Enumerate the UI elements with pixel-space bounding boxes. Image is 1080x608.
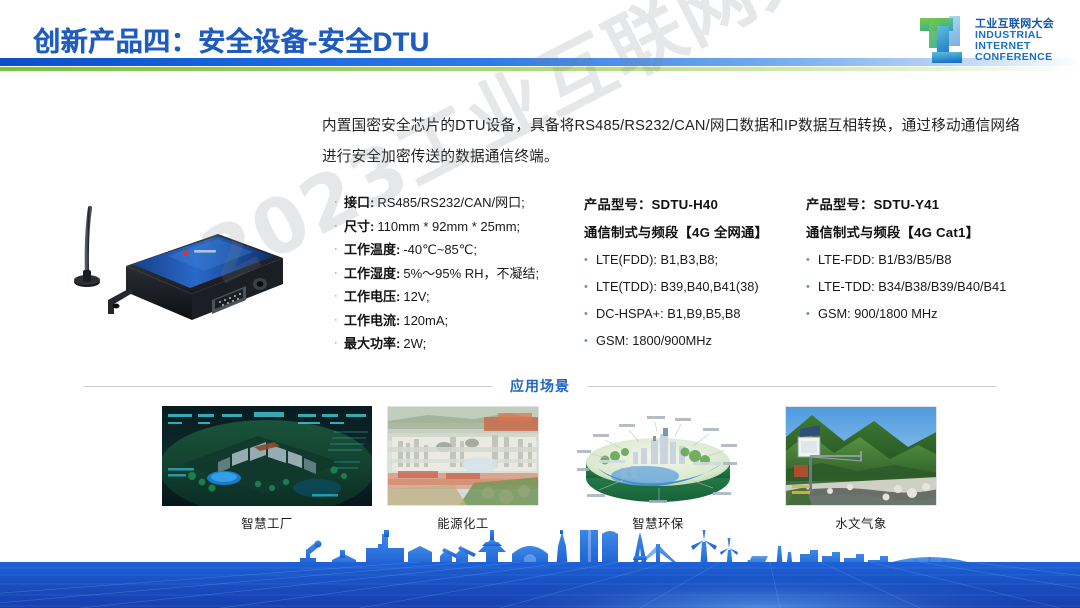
band-text: LTE(TDD): B39,B40,B41(38) <box>596 279 759 295</box>
logo-mark-icon <box>918 12 970 70</box>
scenario-caption: 水文气象 <box>785 514 937 532</box>
band-text: LTE-FDD: B1/B3/B5/B8 <box>818 252 951 268</box>
spec-key: 工作电流: <box>344 312 400 329</box>
scenario-card-list: 智慧工厂 <box>84 406 996 530</box>
spec-value: 12V; <box>403 288 429 305</box>
band-item: • LTE(TDD): B39,B40,B41(38) <box>584 279 802 296</box>
bullet-dot-icon: · <box>334 312 344 329</box>
bullet-dot-icon: · <box>334 288 344 305</box>
footer-skyline-band <box>0 530 1080 608</box>
model-label: 产品型号： <box>806 197 873 212</box>
model-block-y41: 产品型号：SDTU-Y41 通信制式与频段【4G Cat1】 • LTE-FDD… <box>806 194 1056 333</box>
spec-item: · 工作电压: 12V; <box>334 288 576 305</box>
spec-item: · 最大功率: 2W; <box>334 335 576 352</box>
spec-value: -40℃~85℃; <box>403 241 477 258</box>
spec-key: 最大功率: <box>344 335 400 352</box>
product-description: 内置国密安全芯片的DTU设备，具备将RS485/RS232/CAN/网口数据和I… <box>322 111 1034 173</box>
band-item: • GSM: 900/1800 MHz <box>806 306 1056 323</box>
band-text: LTE-TDD: B34/B38/B39/B40/B41 <box>818 279 1006 295</box>
scenario-thumbnail <box>387 406 539 506</box>
spec-item: · 接口: RS485/RS232/CAN/网口; <box>334 194 576 211</box>
band-item: • DC-HSPA+: B1,B9,B5,B8 <box>584 306 802 323</box>
model-name-row: 产品型号：SDTU-Y41 <box>806 194 1056 213</box>
page-title: 创新产品四：安全设备-安全DTU <box>33 20 429 59</box>
spec-item: · 工作温度: -40℃~85℃; <box>334 241 576 258</box>
antenna-illustration <box>74 208 100 287</box>
band-text: GSM: 900/1800 MHz <box>818 306 938 322</box>
spec-list: · 接口: RS485/RS232/CAN/网口; · 尺寸: 110mm * … <box>334 194 576 359</box>
conference-logo: 工业互联网大会 INDUSTRIAL INTERNET CONFERENCE <box>918 8 1066 74</box>
hydrology-station-image <box>786 407 937 506</box>
footer-ground-glow <box>0 562 1080 608</box>
spec-value: RS485/RS232/CAN/网口; <box>377 194 524 211</box>
section-rule-right <box>588 386 996 387</box>
band-title: 通信制式与频段【4G 全网通】 <box>584 222 802 241</box>
scenario-card[interactable]: 智慧工厂 <box>162 406 372 532</box>
spec-item: · 工作电流: 120mA; <box>334 312 576 329</box>
bullet-dot-icon: · <box>334 265 344 282</box>
scenario-card[interactable]: 智慧环保 <box>575 406 741 532</box>
bullet-dot-icon: • <box>806 306 818 323</box>
band-item: • LTE-FDD: B1/B3/B5/B8 <box>806 252 1056 269</box>
model-name-row: 产品型号：SDTU-H40 <box>584 194 802 213</box>
bullet-dot-icon: • <box>806 279 818 296</box>
band-item: • LTE-TDD: B34/B38/B39/B40/B41 <box>806 279 1056 296</box>
spec-key: 接口: <box>344 194 374 211</box>
scenario-caption: 能源化工 <box>387 514 539 532</box>
model-value: SDTU-Y41 <box>873 197 939 212</box>
bullet-dot-icon: · <box>334 241 344 258</box>
spec-key: 工作湿度: <box>344 265 400 282</box>
spec-value: 5%～95% RH，不凝结; <box>403 265 539 282</box>
model-label: 产品型号： <box>584 197 651 212</box>
section-header-application-scenarios: 应用场景 <box>84 375 996 397</box>
spec-key: 工作温度: <box>344 241 400 258</box>
scenario-thumbnail <box>785 406 937 506</box>
device-photo <box>68 196 300 336</box>
band-text: DC-HSPA+: B1,B9,B5,B8 <box>596 306 741 322</box>
spec-item: · 尺寸: 110mm * 92mm * 25mm; <box>334 218 576 235</box>
spec-value: 2W; <box>403 335 426 352</box>
band-title: 通信制式与频段【4G Cat1】 <box>806 222 1056 241</box>
band-item: • GSM: 1800/900MHz <box>584 333 802 350</box>
smart-factory-image <box>162 406 372 506</box>
bullet-dot-icon: · <box>334 218 344 235</box>
model-value: SDTU-H40 <box>651 197 718 212</box>
slide-root: 创新产品四：安全设备-安全DTU 工业互联网大会 INDUSTRIAL <box>0 0 1080 608</box>
bullet-dot-icon: • <box>584 333 596 350</box>
band-text: LTE(FDD): B1,B3,B8; <box>596 252 718 268</box>
logo-en-line-3: CONFERENCE <box>975 52 1054 63</box>
section-rule-left <box>84 386 492 387</box>
bullet-dot-icon: · <box>334 194 344 211</box>
bullet-dot-icon: · <box>334 335 344 352</box>
spec-value: 110mm * 92mm * 25mm; <box>377 218 520 235</box>
band-item: • LTE(FDD): B1,B3,B8; <box>584 252 802 269</box>
bullet-dot-icon: • <box>584 252 596 269</box>
bullet-dot-icon: • <box>584 306 596 323</box>
logo-text-block: 工业互联网大会 INDUSTRIAL INTERNET CONFERENCE <box>975 19 1054 64</box>
bullet-dot-icon: • <box>806 252 818 269</box>
spec-value: 120mA; <box>403 312 448 329</box>
scenario-thumbnail <box>575 406 741 506</box>
scenario-caption: 智慧工厂 <box>162 514 372 532</box>
bullet-dot-icon: • <box>584 279 596 296</box>
scenario-card[interactable]: 水文气象 <box>785 406 937 532</box>
scenario-caption: 智慧环保 <box>575 514 741 532</box>
model-block-h40: 产品型号：SDTU-H40 通信制式与频段【4G 全网通】 • LTE(FDD)… <box>584 194 802 360</box>
spec-item: · 工作湿度: 5%～95% RH，不凝结; <box>334 265 576 282</box>
spec-key: 工作电压: <box>344 288 400 305</box>
energy-chemical-image <box>388 407 539 506</box>
scenario-card[interactable]: 能源化工 <box>387 406 539 532</box>
scenario-thumbnail <box>162 406 372 506</box>
smart-environment-image <box>575 406 741 506</box>
section-title: 应用场景 <box>492 376 588 396</box>
band-text: GSM: 1800/900MHz <box>596 333 712 349</box>
spec-key: 尺寸: <box>344 218 374 235</box>
